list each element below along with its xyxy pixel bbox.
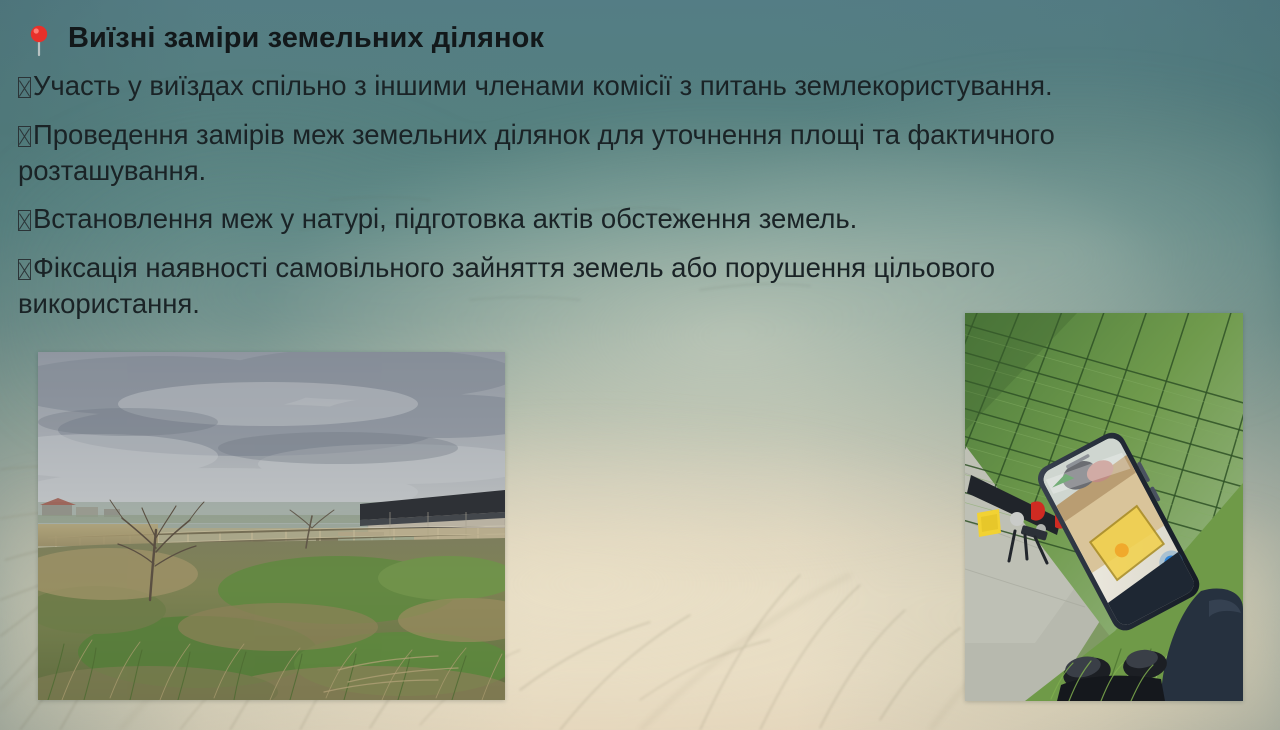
list-item-text: Участь у виїздах спільно з іншими членам… — [33, 70, 1053, 101]
slide-title-row: Виїзні заміри земельних ділянок — [16, 22, 1254, 58]
list-item: Проведення замірів меж земельних ділянок… — [18, 117, 1136, 189]
list-item-text: Фіксація наявності самовільного зайняття… — [18, 252, 995, 319]
slide-canvas: Виїзні заміри земельних ділянок Участь у… — [0, 0, 1280, 730]
list-item: Фіксація наявності самовільного зайняття… — [18, 250, 1136, 322]
field-survey-photo — [38, 352, 505, 700]
slide-content: Виїзні заміри земельних ділянок Участь у… — [0, 0, 1280, 335]
bullet-glyph-icon — [18, 210, 31, 231]
page-title: Виїзні заміри земельних ділянок — [68, 22, 544, 55]
bullet-list: Участь у виїздах спільно з іншими членам… — [16, 68, 1254, 322]
list-item: Встановлення меж у натурі, підготовка ак… — [18, 201, 1136, 237]
bullet-glyph-icon — [18, 126, 31, 147]
list-item-text: Проведення замірів меж земельних ділянок… — [18, 119, 1055, 186]
bullet-glyph-icon — [18, 259, 31, 280]
bullet-glyph-icon — [18, 77, 31, 98]
list-item: Участь у виїздах спільно з іншими членам… — [18, 68, 1136, 104]
round-pushpin-icon — [26, 24, 52, 58]
smartphone-measurement-photo — [965, 313, 1243, 701]
list-item-text: Встановлення меж у натурі, підготовка ак… — [33, 203, 857, 234]
